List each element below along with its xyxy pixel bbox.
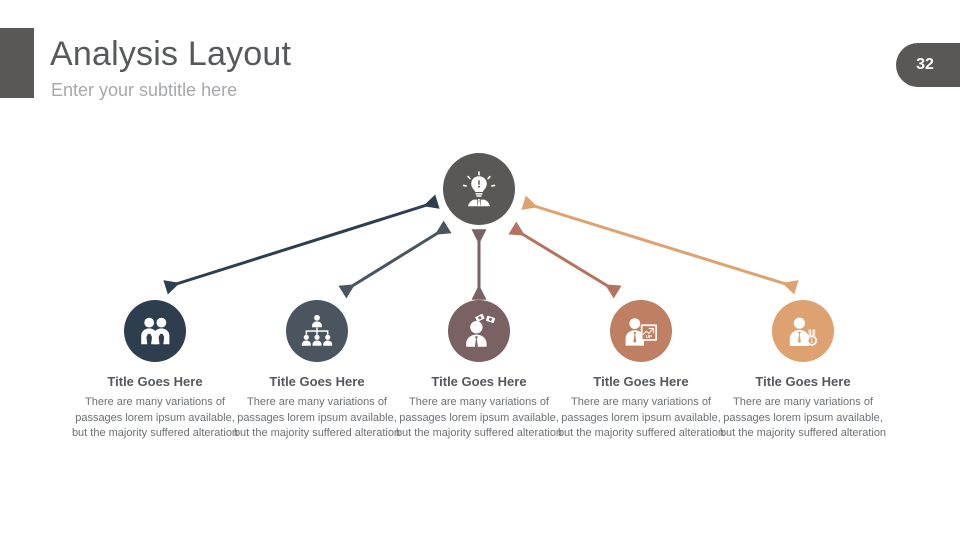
caption-body: There are many variations of passages lo… xyxy=(71,395,239,442)
two-people-icon xyxy=(137,313,173,349)
leaf-node-award[interactable]: 1 xyxy=(772,300,834,362)
organization-chart-icon xyxy=(299,313,335,349)
leaf-node-organization[interactable] xyxy=(286,300,348,362)
caption-block: Title Goes Here There are many variation… xyxy=(233,373,401,442)
arrow-hub-to-node-3 xyxy=(519,232,611,288)
arrow-hub-to-node-0 xyxy=(173,204,430,285)
caption-block: Title Goes Here There are many variation… xyxy=(557,373,725,442)
caption-title: Title Goes Here xyxy=(719,373,887,390)
person-lightbulb-idea-icon xyxy=(458,168,500,210)
caption-body: There are many variations of passages lo… xyxy=(719,395,887,442)
leaf-node-growth[interactable]: UP xyxy=(610,300,672,362)
arrow-hub-to-node-1 xyxy=(349,231,441,288)
person-award-medal-icon: 1 xyxy=(785,313,821,349)
arrow-hub-to-node-4 xyxy=(531,205,789,285)
caption-title: Title Goes Here xyxy=(557,373,725,390)
caption-body: There are many variations of passages lo… xyxy=(557,395,725,442)
leaf-node-people[interactable] xyxy=(124,300,186,362)
svg-text:1: 1 xyxy=(811,339,814,345)
svg-text:UP: UP xyxy=(646,334,652,339)
caption-block: Title Goes Here There are many variation… xyxy=(719,373,887,442)
hub-node[interactable] xyxy=(443,153,515,225)
person-presentation-chart-up-icon: UP xyxy=(623,313,659,349)
caption-body: There are many variations of passages lo… xyxy=(233,395,401,442)
caption-block: Title Goes Here There are many variation… xyxy=(395,373,563,442)
arrow-layer xyxy=(0,0,960,540)
caption-title: Title Goes Here xyxy=(395,373,563,390)
person-money-icon xyxy=(461,313,497,349)
caption-title: Title Goes Here xyxy=(233,373,401,390)
caption-body: There are many variations of passages lo… xyxy=(395,395,563,442)
caption-block: Title Goes Here There are many variation… xyxy=(71,373,239,442)
caption-title: Title Goes Here xyxy=(71,373,239,390)
analysis-diagram: UP 1 Title Goes Here There are many xyxy=(0,0,960,540)
leaf-node-finance[interactable] xyxy=(448,300,510,362)
